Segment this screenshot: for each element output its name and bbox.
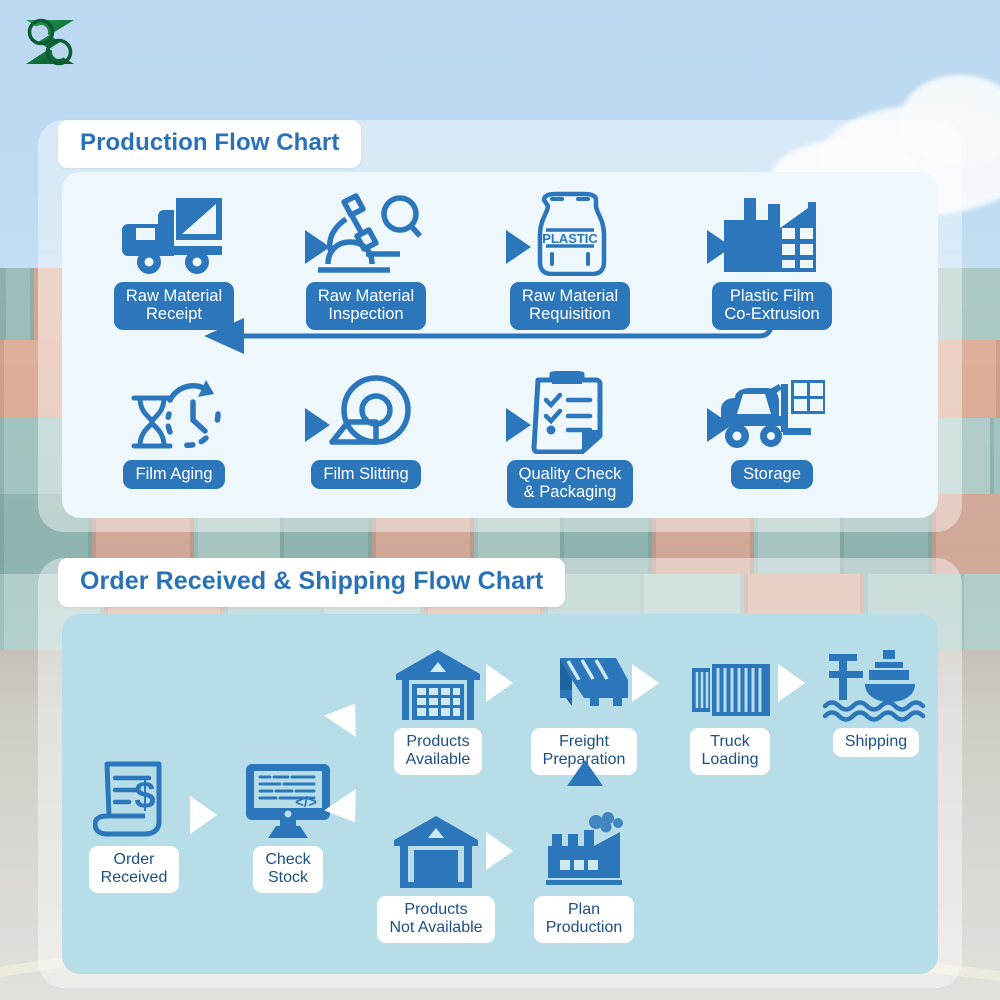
warehouse-closed-icon xyxy=(390,804,482,890)
node-label: Plan Production xyxy=(534,896,635,943)
node-label: Raw Material Requisition xyxy=(510,282,630,330)
node-quality-check-packaging[interactable]: Quality Check & Packaging xyxy=(490,368,650,508)
hourglass-clock-icon xyxy=(122,368,226,454)
shipping-flow-chart-title: Order Received & Shipping Flow Chart xyxy=(58,558,565,607)
node-plan-production[interactable]: Plan Production xyxy=(504,804,664,943)
plan-production-to-freight-arrow xyxy=(567,760,603,786)
delivery-truck-icon xyxy=(122,190,226,276)
node-label: Products Available xyxy=(394,728,483,775)
node-products-available[interactable]: Products Available xyxy=(358,636,518,775)
production-flow-chart-title: Production Flow Chart xyxy=(58,120,361,168)
section-shipping-flow-chart: Order Received & Shipping Flow Chart $ O… xyxy=(38,558,962,988)
invoice-dollar-icon: $ xyxy=(93,754,175,840)
pallet-stack-icon xyxy=(538,636,630,722)
factory-icon xyxy=(716,190,828,276)
node-shipping[interactable]: Shipping xyxy=(796,636,956,757)
shipping-flow-panel: $ Order Received </> xyxy=(62,614,938,974)
factory-smoke-icon xyxy=(538,804,630,890)
node-film-slitting[interactable]: Film Slitting xyxy=(286,368,446,489)
node-label: Raw Material Inspection xyxy=(306,282,426,330)
clipboard-checklist-icon xyxy=(524,368,616,454)
node-label: Check Stock xyxy=(253,846,322,893)
warehouse-open-icon xyxy=(394,636,482,722)
node-truck-loading[interactable]: Truck Loading xyxy=(650,636,810,775)
node-label: Order Received xyxy=(89,846,180,893)
section-production-flow-chart: Production Flow Chart Raw Mat xyxy=(38,120,962,532)
node-label: Storage xyxy=(731,460,813,489)
node-label: Plastic Film Co-Extrusion xyxy=(712,282,831,330)
shipping-container-icon xyxy=(686,636,774,722)
sack-label-text: PLASTIC xyxy=(542,231,598,246)
node-label: Film Aging xyxy=(123,460,224,489)
company-logo xyxy=(16,14,86,70)
plastic-sack-icon: PLASTIC xyxy=(522,190,618,276)
production-flow-panel: Raw Material Receipt xyxy=(62,172,938,518)
monitor-code-icon: </> xyxy=(242,754,334,840)
forklift-icon xyxy=(717,368,827,454)
microscope-magnifier-icon xyxy=(310,190,422,276)
node-raw-material-requisition[interactable]: PLASTIC Raw Material Requisition xyxy=(490,190,650,330)
node-label: Film Slitting xyxy=(311,460,420,489)
node-freight-preparation[interactable]: Freight Preparation xyxy=(504,636,664,775)
svg-text:</>: </> xyxy=(295,794,317,811)
node-label: Raw Material Receipt xyxy=(114,282,234,330)
port-crane-ship-icon xyxy=(821,636,931,722)
node-label: Truck Loading xyxy=(690,728,771,775)
node-products-not-available[interactable]: Products Not Available xyxy=(356,804,516,943)
node-raw-material-inspection[interactable]: Raw Material Inspection xyxy=(286,190,446,330)
svg-text:$: $ xyxy=(134,775,155,817)
node-label: Products Not Available xyxy=(377,896,494,943)
node-label: Shipping xyxy=(833,728,919,757)
node-storage[interactable]: Storage xyxy=(692,368,852,489)
node-film-aging[interactable]: Film Aging xyxy=(94,368,254,489)
node-raw-material-receipt[interactable]: Raw Material Receipt xyxy=(94,190,254,330)
film-roll-icon xyxy=(314,368,418,454)
node-plastic-film-co-extrusion[interactable]: Plastic Film Co-Extrusion xyxy=(692,190,852,330)
node-label: Quality Check & Packaging xyxy=(507,460,634,508)
